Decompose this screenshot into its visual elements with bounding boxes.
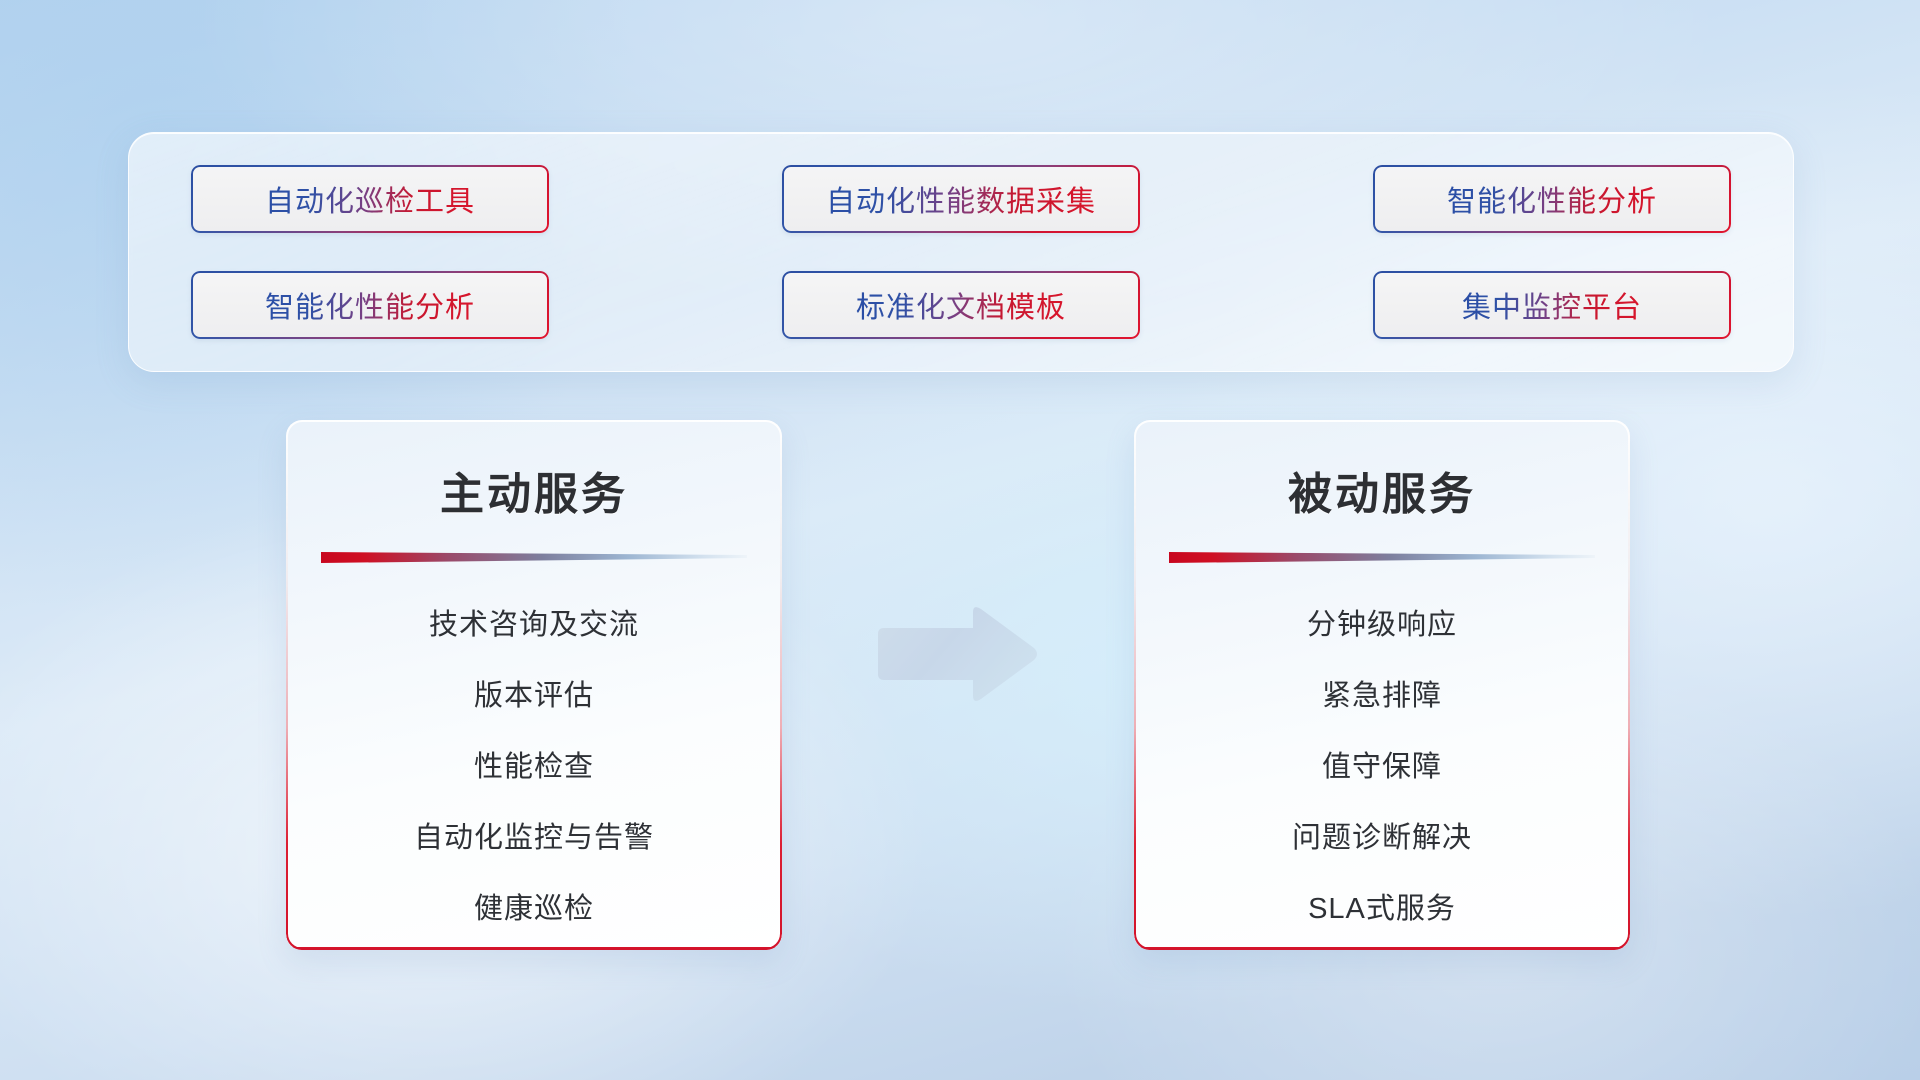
chip-intelligent-performance-analysis-top[interactable]: 智能化性能分析 bbox=[1373, 165, 1731, 233]
list-item: 分钟级响应 bbox=[1134, 590, 1630, 661]
capability-chip-panel: 自动化巡检工具 自动化性能数据采集 智能化性能分析 智能化性能分析 标准化文档模… bbox=[128, 132, 1794, 372]
chip-row-2: 智能化性能分析 标准化文档模板 集中监控平台 bbox=[191, 271, 1731, 339]
chip-automated-inspection-tool[interactable]: 自动化巡检工具 bbox=[191, 165, 549, 233]
list-item: 技术咨询及交流 bbox=[286, 590, 782, 661]
card-title: 主动服务 bbox=[286, 458, 782, 522]
chip-row-1: 自动化巡检工具 自动化性能数据采集 智能化性能分析 bbox=[191, 165, 1731, 233]
chip-label: 自动化巡检工具 bbox=[265, 178, 475, 220]
chip-label: 标准化文档模板 bbox=[856, 284, 1066, 326]
card-bottom-accent-rule bbox=[286, 947, 782, 950]
card-title: 被动服务 bbox=[1134, 458, 1630, 522]
card-bottom-accent-rule bbox=[1134, 947, 1630, 950]
list-item: 自动化监控与告警 bbox=[286, 803, 782, 874]
card-divider-wedge bbox=[321, 548, 747, 564]
chip-label: 自动化性能数据采集 bbox=[826, 178, 1096, 220]
chip-intelligent-performance-analysis[interactable]: 智能化性能分析 bbox=[191, 271, 549, 339]
list-item: 值守保障 bbox=[1134, 732, 1630, 803]
chip-automated-performance-data-collection[interactable]: 自动化性能数据采集 bbox=[782, 165, 1140, 233]
card-divider-wedge bbox=[1169, 548, 1595, 564]
service-list-passive: 分钟级响应 紧急排障 值守保障 问题诊断解决 SLA式服务 bbox=[1134, 590, 1630, 945]
chip-centralized-monitoring-platform[interactable]: 集中监控平台 bbox=[1373, 271, 1731, 339]
list-item: 版本评估 bbox=[286, 661, 782, 732]
service-list-active: 技术咨询及交流 版本评估 性能检查 自动化监控与告警 健康巡检 bbox=[286, 590, 782, 945]
list-item: 问题诊断解决 bbox=[1134, 803, 1630, 874]
list-item: SLA式服务 bbox=[1134, 874, 1630, 945]
service-card-active: 主动服务 技术咨询及交流 版本评估 性能检查 自动化监控与告警 健康巡检 bbox=[286, 420, 782, 950]
service-card-passive: 被动服务 分钟级响应 紧急排障 值守保障 问题诊断解决 SLA式服务 bbox=[1134, 420, 1630, 950]
chip-label: 集中监控平台 bbox=[1462, 284, 1642, 326]
chip-label: 智能化性能分析 bbox=[265, 284, 475, 326]
list-item: 性能检查 bbox=[286, 732, 782, 803]
arrow-right-icon bbox=[872, 604, 1040, 704]
chip-label: 智能化性能分析 bbox=[1447, 178, 1657, 220]
list-item: 健康巡检 bbox=[286, 874, 782, 945]
chip-standardized-document-template[interactable]: 标准化文档模板 bbox=[782, 271, 1140, 339]
list-item: 紧急排障 bbox=[1134, 661, 1630, 732]
